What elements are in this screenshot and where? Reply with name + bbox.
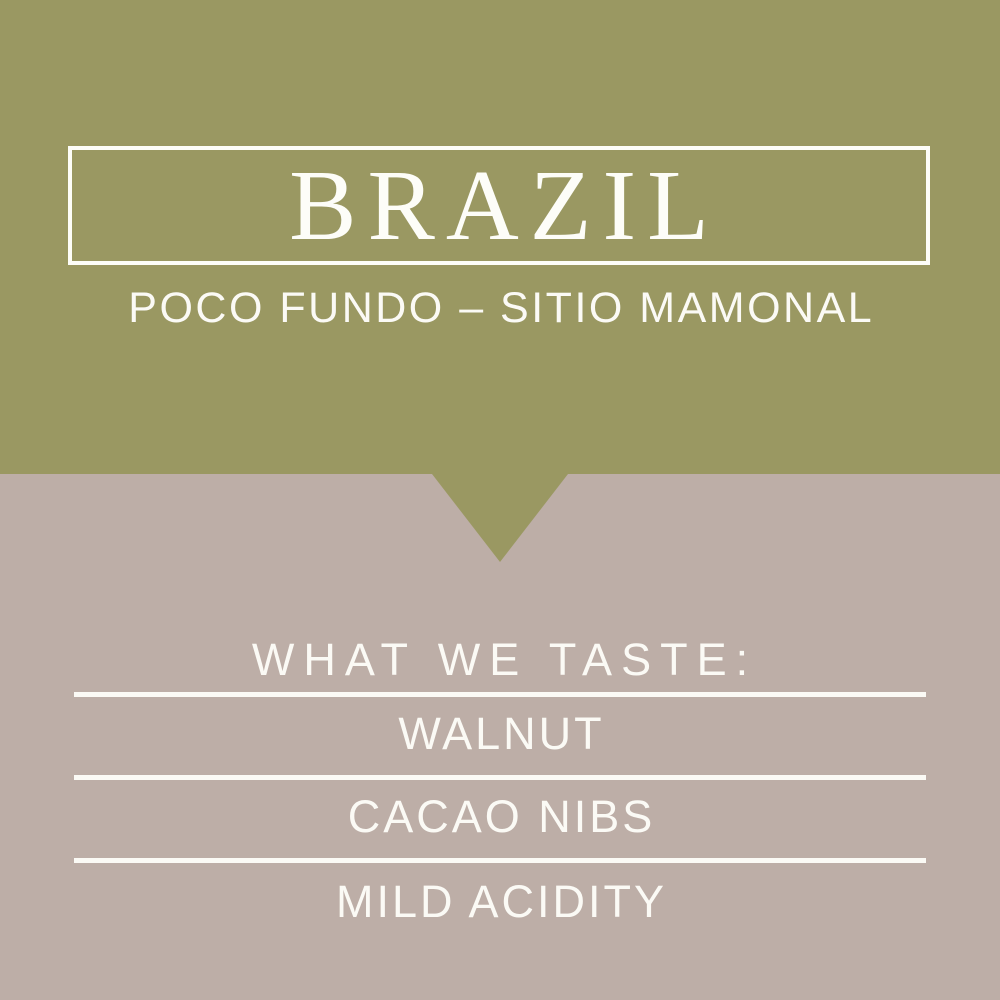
origin-title-frame: BRAZIL xyxy=(68,146,930,265)
list-item: CACAO NIBS xyxy=(74,780,926,853)
origin-subtitle: POCO FUNDO – SITIO MAMONAL xyxy=(0,283,1000,333)
band-chevron-pointer xyxy=(432,474,568,562)
page-title: BRAZIL xyxy=(278,155,720,256)
coffee-label: BRAZIL POCO FUNDO – SITIO MAMONAL WHAT W… xyxy=(0,0,1000,1000)
tasting-notes-section: WHAT WE TASTE: WALNUT CACAO NIBS MILD AC… xyxy=(74,632,926,941)
tasting-notes-heading: WHAT WE TASTE: xyxy=(74,632,926,687)
list-item: WALNUT xyxy=(74,697,926,770)
list-item: MILD ACIDITY xyxy=(74,863,926,941)
